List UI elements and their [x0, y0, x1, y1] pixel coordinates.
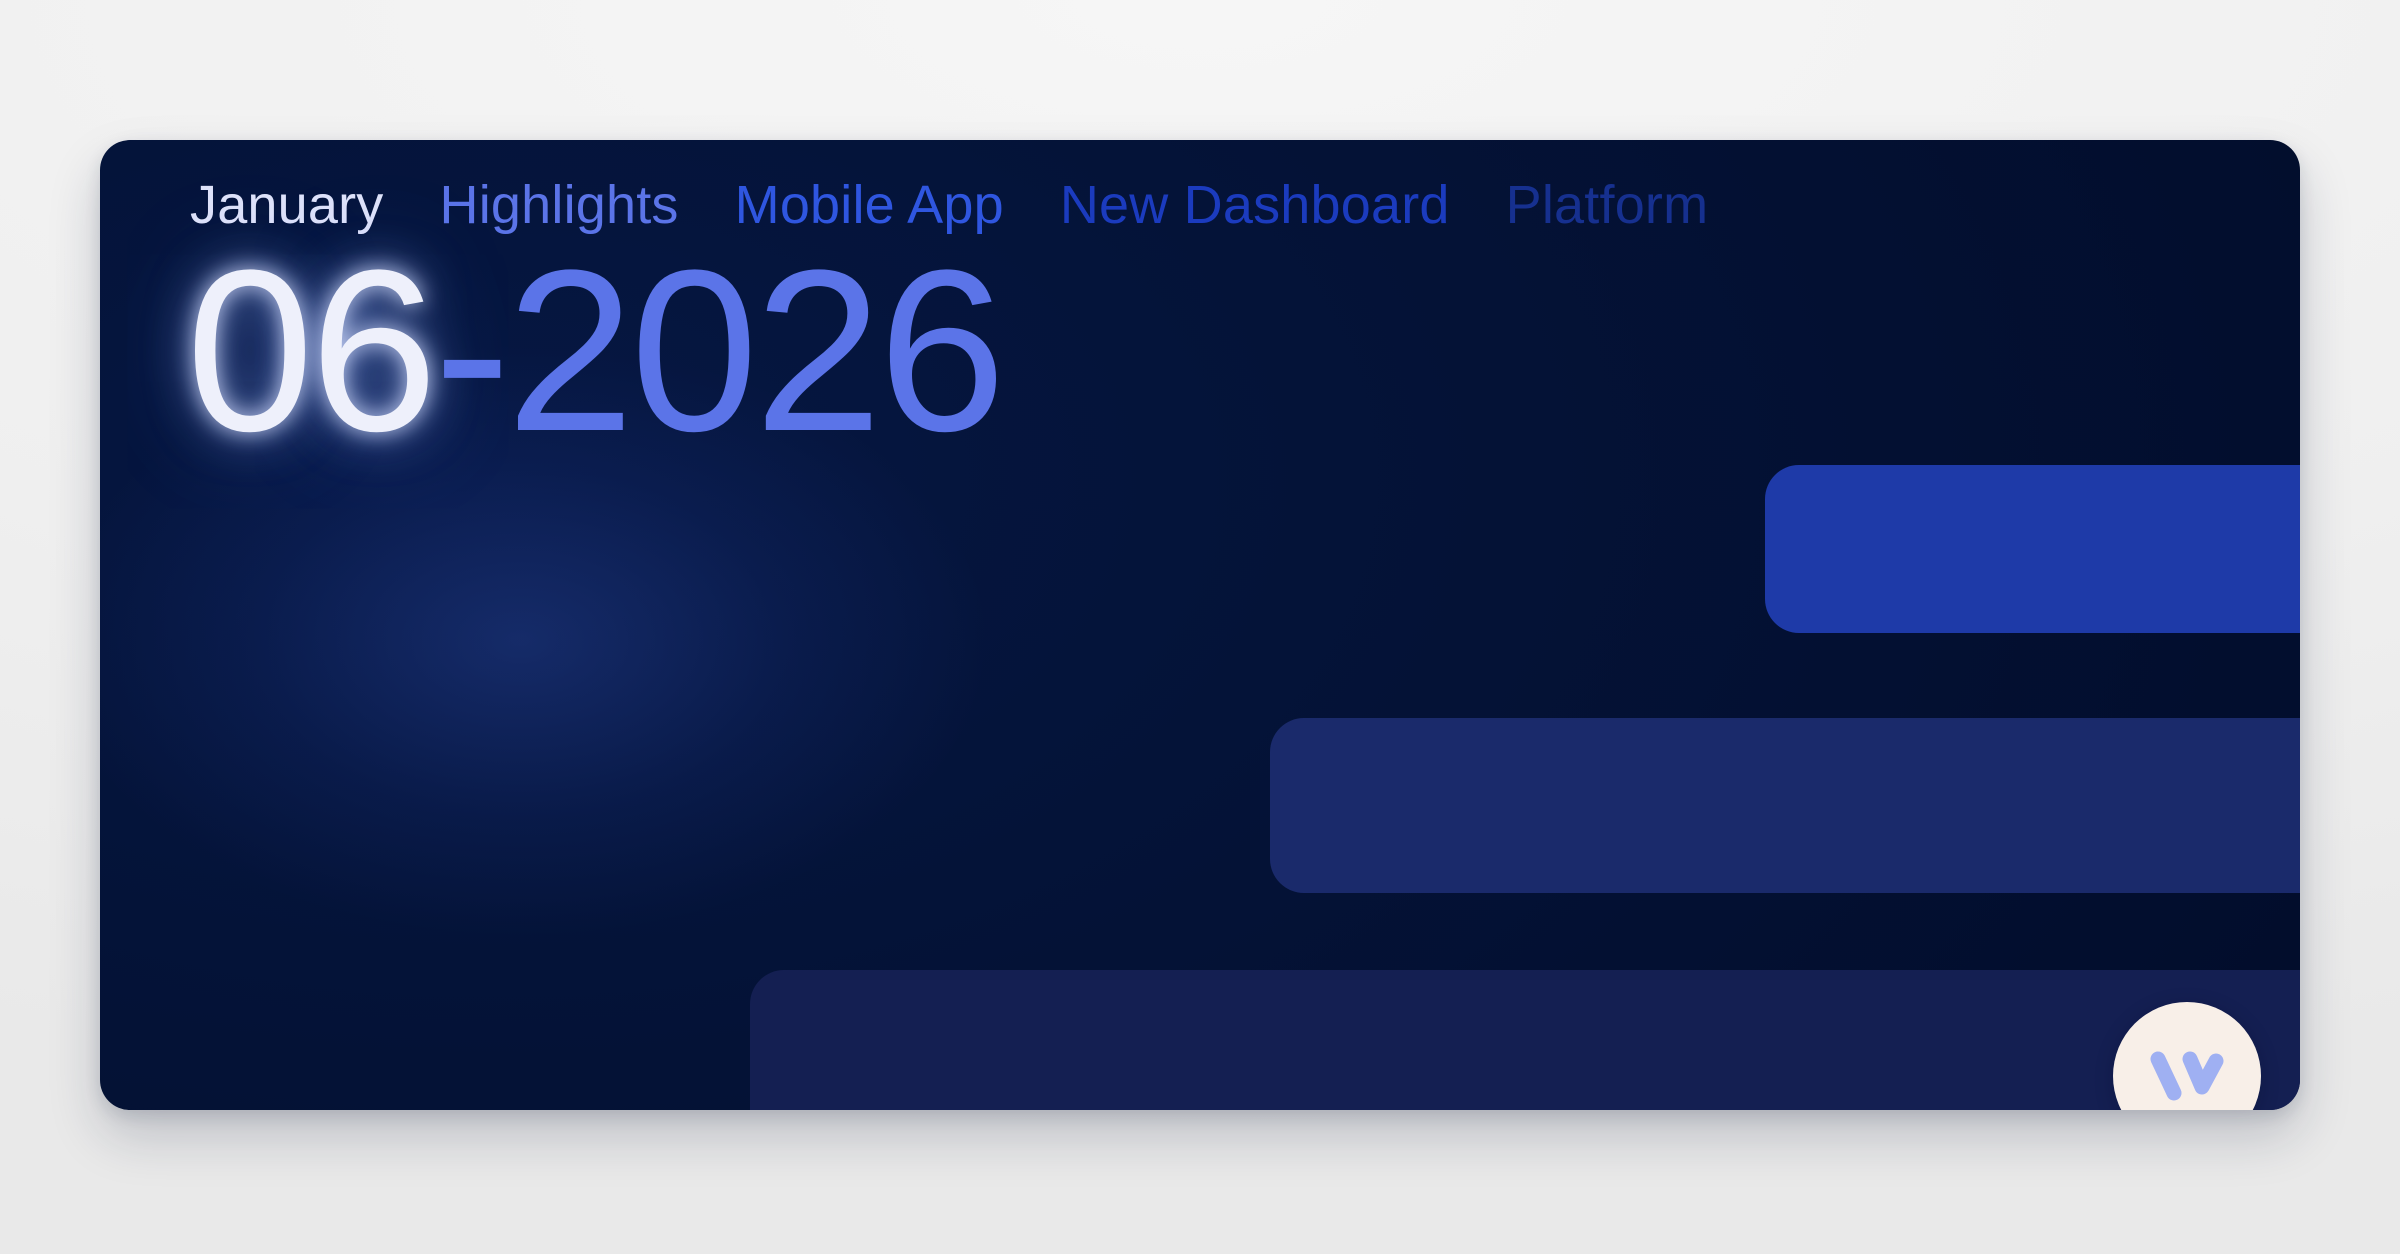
headline-separator: - — [434, 236, 507, 466]
bar-primary — [1765, 465, 2300, 633]
hero-card: January Highlights Mobile App New Dashbo… — [100, 140, 2300, 1110]
w-mark-icon — [2148, 1049, 2226, 1103]
headline-year: 2026 — [506, 236, 1002, 466]
bar-tertiary — [750, 970, 2300, 1110]
nav-item-new-dashboard[interactable]: New Dashboard — [1060, 178, 1450, 232]
headline-month-number: 06 — [186, 236, 434, 466]
nav-item-platform[interactable]: Platform — [1506, 178, 1709, 232]
brand-logo-badge[interactable] — [2113, 1002, 2261, 1110]
date-headline: 06 - 2026 — [186, 236, 1002, 466]
bar-secondary — [1270, 718, 2300, 893]
page-root: January Highlights Mobile App New Dashbo… — [0, 0, 2400, 1254]
